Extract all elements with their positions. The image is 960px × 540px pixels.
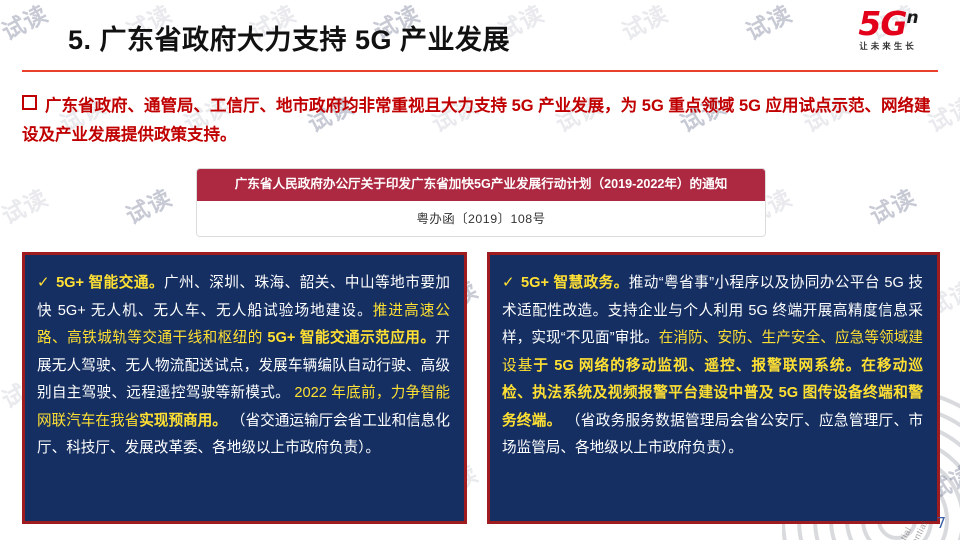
panel-right-heading: 5G+ 智慧政务。 [521, 275, 629, 291]
document-number: 粤办函〔2019〕108号 [197, 201, 765, 236]
watermark-text: 试读 [863, 179, 921, 231]
panel-left-heading: 5G+ 智能交通。 [56, 275, 164, 291]
panel-left-seg-2: 5G+ 智能交通示范应用。 [267, 330, 435, 346]
document-notice-card: 广东省人民政府办公厅关于印发广东省加快5G产业发展行动计划（2019-2022年… [196, 168, 766, 237]
watermark-text: 试读 [0, 179, 53, 231]
check-mark-icon: ✓ [37, 274, 50, 291]
slide-canvas: 5. 广东省政府大力支持 5G 产业发展 5Gn 让未来生长 广东省政府、通管局… [0, 0, 960, 540]
hollow-square-bullet-icon [22, 95, 37, 110]
logo-text: 5G [858, 4, 906, 43]
logo-superscript: n [906, 8, 917, 28]
panel-left-content: ✓5G+ 智能交通。广州、深圳、珠海、韶关、中山等地市要加快 5G+ 无人机、无… [25, 255, 464, 473]
lead-paragraph: 广东省政府、通管局、工信厅、地市政府均非常重视且大力支持 5G 产业发展，为 5… [22, 92, 940, 150]
logo-wordmark: 5Gn [858, 6, 917, 42]
panel-right-seg-4: （省政务服务数据管理局会省公安厅、应急管理厅、市场监管局、各地级以上市政府负责）… [502, 413, 923, 457]
page-number: 7 [936, 514, 946, 532]
document-title: 广东省人民政府办公厅关于印发广东省加快5G产业发展行动计划（2019-2022年… [197, 169, 765, 201]
brand-logo: 5Gn 让未来生长 [834, 6, 942, 64]
page-title: 5. 广东省政府大力支持 5G 产业发展 [68, 18, 510, 57]
lead-text: 广东省政府、通管局、工信厅、地市政府均非常重视且大力支持 5G 产业发展，为 5… [22, 97, 931, 144]
panel-right-content: ✓5G+ 智慧政务。推动“粤省事”小程序以及协同办公平台 5G 技术适配性改造。… [490, 255, 937, 473]
panel-right-seg-2: 于 5G 网络的移动监视、遥控、报警联网系统。 [533, 358, 861, 374]
panel-left-seg-5: 实现预商用。 [139, 413, 227, 429]
panel-smart-transport: ✓5G+ 智能交通。广州、深圳、珠海、韶关、中山等地市要加快 5G+ 无人机、无… [22, 252, 467, 524]
watermark-text: 试读 [119, 179, 177, 231]
slide-header: 5. 广东省政府大力支持 5G 产业发展 [0, 0, 960, 72]
title-divider [22, 70, 938, 72]
panel-smart-government: ✓5G+ 智慧政务。推动“粤省事”小程序以及协同办公平台 5G 技术适配性改造。… [487, 252, 940, 524]
check-mark-icon: ✓ [502, 274, 515, 291]
